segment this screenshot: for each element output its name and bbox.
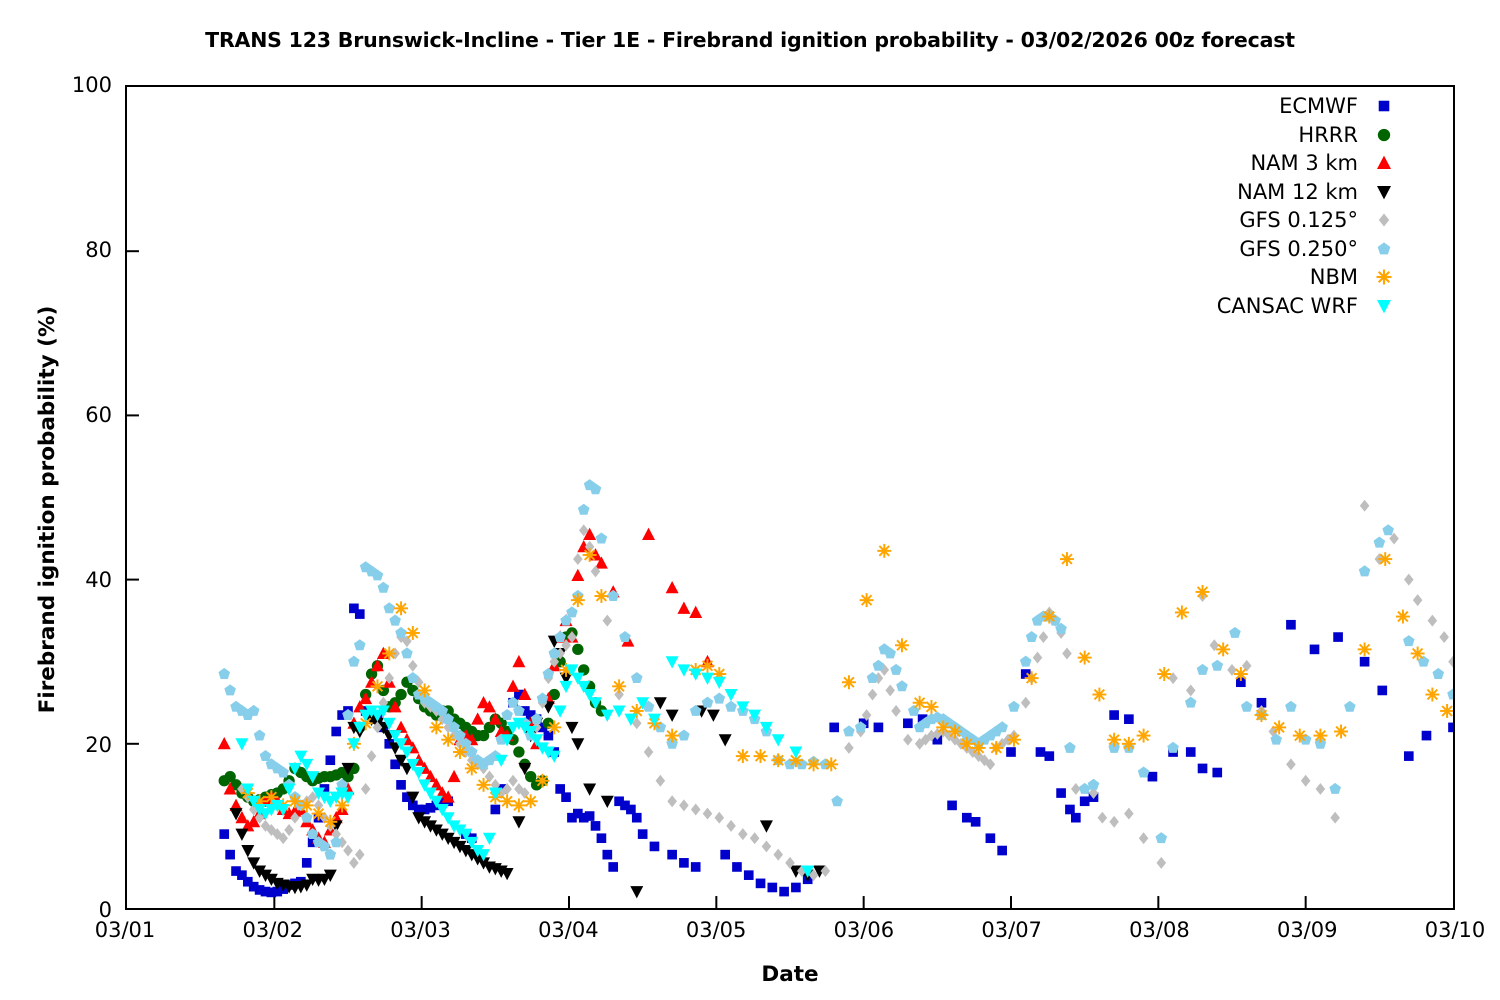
series-gfs-0-250	[218, 479, 1453, 859]
y-axis-title: Firebrand ignition probability (%)	[35, 97, 60, 922]
legend-marker-circle-icon	[1358, 121, 1410, 149]
x-tick-label: 03/05	[686, 918, 747, 942]
chart-title: TRANS 123 Brunswick-Incline - Tier 1E - …	[0, 28, 1500, 52]
legend-label: NBM	[1310, 265, 1358, 289]
legend-marker-triangle-down-icon	[1358, 292, 1410, 320]
legend: ECMWFHRRRNAM 3 kmNAM 12 kmGFS 0.125°GFS …	[1120, 92, 1410, 320]
x-tick-label: 03/02	[243, 918, 304, 942]
legend-item-nbm[interactable]: NBM	[1120, 263, 1410, 292]
legend-item-nam-3-km[interactable]: NAM 3 km	[1120, 149, 1410, 178]
chart-root: TRANS 123 Brunswick-Incline - Tier 1E - …	[0, 0, 1500, 1000]
legend-item-cansac-wrf[interactable]: CANSAC WRF	[1120, 292, 1410, 321]
legend-label: ECMWF	[1279, 94, 1358, 118]
x-tick-label: 03/08	[1129, 918, 1190, 942]
y-tick-label: 20	[85, 733, 112, 757]
x-axis-title: Date	[125, 962, 1455, 987]
series-nam-12-km	[230, 636, 826, 899]
legend-label: CANSAC WRF	[1217, 294, 1358, 318]
legend-marker-asterisk-icon	[1358, 263, 1410, 291]
x-tick-label: 03/09	[1277, 918, 1338, 942]
x-tick-label: 03/03	[390, 918, 451, 942]
y-tick-label: 100	[72, 73, 112, 97]
legend-item-gfs-0-250[interactable]: GFS 0.250°	[1120, 235, 1410, 264]
legend-marker-triangle-down-icon	[1358, 178, 1410, 206]
legend-item-ecmwf[interactable]: ECMWF	[1120, 92, 1410, 121]
x-tick-label: 03/01	[95, 918, 156, 942]
y-tick-label: 60	[85, 403, 112, 427]
legend-label: HRRR	[1298, 123, 1358, 147]
x-tick-label: 03/04	[538, 918, 599, 942]
y-tick-label: 80	[85, 238, 112, 262]
legend-marker-diamond-icon	[1358, 206, 1410, 234]
x-tick-label: 03/10	[1425, 918, 1486, 942]
legend-label: GFS 0.125°	[1239, 208, 1358, 232]
legend-item-hrrr[interactable]: HRRR	[1120, 121, 1410, 150]
legend-marker-pentagon-icon	[1358, 235, 1410, 263]
x-tick-label: 03/07	[981, 918, 1042, 942]
legend-marker-square-icon	[1358, 92, 1410, 120]
y-tick-label: 40	[85, 568, 112, 592]
legend-label: NAM 12 km	[1237, 180, 1358, 204]
legend-item-nam-12-km[interactable]: NAM 12 km	[1120, 178, 1410, 207]
legend-marker-triangle-up-icon	[1358, 149, 1410, 177]
legend-label: NAM 3 km	[1250, 151, 1358, 175]
legend-item-gfs-0-125[interactable]: GFS 0.125°	[1120, 206, 1410, 235]
legend-label: GFS 0.250°	[1239, 237, 1358, 261]
x-tick-label: 03/06	[834, 918, 895, 942]
